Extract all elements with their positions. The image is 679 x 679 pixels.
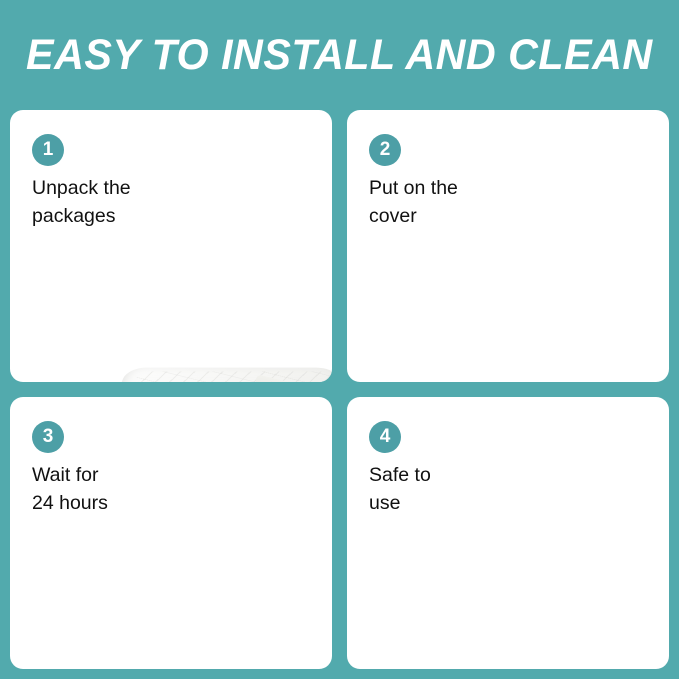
page-title: EASY TO INSTALL AND CLEAN	[26, 34, 653, 77]
step-badge-3: 3	[32, 421, 64, 453]
step-badge-4: 4	[369, 421, 401, 453]
step-number-3: 3	[43, 427, 54, 446]
step-number-2: 2	[380, 140, 391, 159]
step-card-2: 2 Put on the cover	[347, 110, 669, 382]
step-card-3: 24 3 Wait for 24 hours	[10, 397, 332, 669]
step-number-4: 4	[380, 427, 391, 446]
header-banner: EASY TO INSTALL AND CLEAN	[0, 0, 679, 108]
vacuum-sealed-package-photo	[96, 338, 332, 382]
package-top-face	[108, 368, 332, 382]
step-badge-2: 2	[369, 134, 401, 166]
step-caption-3: Wait for 24 hours	[32, 461, 197, 518]
step-number-1: 1	[43, 140, 54, 159]
infographic-root: EASY TO INSTALL AND CLEAN 1 Unpack the p…	[0, 0, 679, 679]
step-caption-4: Safe to use	[369, 461, 534, 518]
step-card-4: 4 Safe to use	[347, 397, 669, 669]
steps-grid: 1 Unpack the packages 2	[10, 110, 669, 669]
step-caption-2: Put on the cover	[369, 174, 534, 231]
step-badge-1: 1	[32, 134, 64, 166]
step-caption-1: Unpack the packages	[32, 174, 197, 231]
step-card-1: 1 Unpack the packages	[10, 110, 332, 382]
